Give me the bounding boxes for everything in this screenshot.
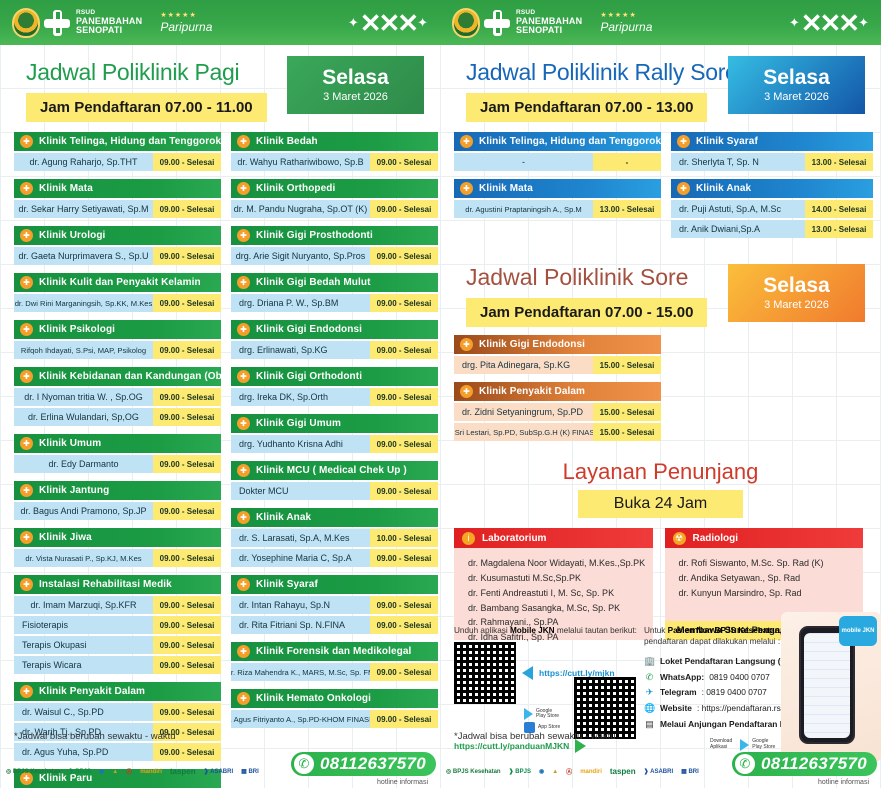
internal-icon: ✚ (460, 385, 473, 398)
clinic-block: ✚Klinik Gigi Endodonsidrg. Pita Adinegar… (454, 335, 661, 374)
mind-icon: ✚ (20, 531, 33, 544)
ear-icon: ✚ (460, 135, 473, 148)
clinic-header: ✚Klinik Jantung (14, 481, 221, 500)
afternoon-column: ✚Klinik Gigi Endodonsidrg. Pita Adinegar… (454, 335, 661, 449)
clinic-header: ✚Instalasi Rehabilitasi Medik (14, 575, 221, 594)
clinic-block: ✚Klinik Gigi Orthodontidrg. Ireka DK, Sp… (231, 367, 438, 406)
doctor-row: dr. Anik Dwiani,Sp.A13.00 - Selesai (671, 220, 873, 238)
clinic-header: ✚Klinik Syaraf (671, 132, 873, 151)
clinic-name: Klinik Mata (39, 183, 93, 194)
rally-registration-hours: Jam Pendaftaran 07.00 - 13.00 (466, 93, 707, 122)
doctor-time: 09.00 - Selesai (153, 703, 221, 721)
clinic-block: ✚Klinik Kulit dan Penyakit Kelamindr. Dw… (14, 273, 221, 312)
clinic-block: ✚Klinik Anakdr. Puji Astuti, Sp.A, M.Sc1… (671, 179, 873, 238)
staff-name: dr. Bambang Sasangka, M.Sc, Sp. PK (468, 601, 647, 616)
doctor-row: dr. I Nyoman tritia W. , Sp.OG09.00 - Se… (14, 388, 221, 406)
clinic-name: Klinik Penyakit Dalam (479, 386, 585, 397)
clinic-header: ✚Klinik Gigi Orthodonti (231, 367, 438, 386)
channel-label: WhatsApp: (660, 670, 704, 685)
kiosk-icon: ▤ (644, 717, 655, 733)
doctor-row: dr. Agung Raharjo, Sp.THT09.00 - Selesai (14, 153, 221, 171)
promo-bold: Mobile JKN (510, 626, 555, 635)
clinic-header: ✚Klinik Anak (231, 508, 438, 527)
doctor-time: 09.00 - Selesai (370, 435, 438, 453)
staff-name: dr. Kunyun Marsindro, Sp. Rad (679, 586, 858, 601)
promo-download-text: Unduh aplikasi Mobile JKN melalui tautan… (454, 625, 639, 636)
doctor-row: dr. Agus Yuha, Sp.PD09.00 - Selesai (14, 743, 221, 761)
doctor-name: dr. Rita Fitriani Sp. N.FINA (231, 616, 370, 634)
clinic-name: Klinik Jantung (39, 485, 109, 496)
doctor-row: dr. Sekar Harry Setiyawati, Sp.M09.00 - … (14, 200, 221, 218)
clinic-header: ✚Klinik Gigi Endodonsi (454, 335, 661, 354)
clinic-name: Klinik MCU ( Medical Chek Up ) (256, 465, 407, 476)
partner-logo-jamkesda-r: ▲ (552, 763, 558, 780)
doctor-name: dr. Wahyu Rathariwibowo, Sp.B (231, 153, 370, 171)
hospital-name: RSUD PANEMBAHAN SENOPATI (76, 10, 142, 35)
doctor-name: drg. Erlinawati, Sp.KG (231, 341, 370, 359)
clinic-name: Klinik Gigi Prosthodonti (256, 230, 373, 241)
heart-icon: ✚ (20, 484, 33, 497)
morning-date: 3 Maret 2026 (323, 91, 388, 103)
schedule-poster: RSUD PANEMBAHAN SENOPATI ★★★★★ Paripurna… (0, 0, 881, 788)
doctor-time: 09.00 - Selesai (153, 294, 221, 312)
clinic-name: Klinik Mata (479, 183, 533, 194)
doctor-name: dr. Gaeta Nurprimavera S., Sp.U (14, 247, 153, 265)
clinic-name: Klinik Anak (256, 512, 311, 523)
morning-day: Selasa (322, 67, 389, 89)
google-play-badge[interactable]: GooglePlay Store (524, 708, 559, 720)
doctor-row: dr. Sherlyta T, Sp. N13.00 - Selesai (671, 153, 873, 171)
partner-logo-a-r: Ⓐ (566, 763, 572, 780)
clinic-header: ✚Klinik Kebidanan dan Kandungan (Obsygn) (14, 367, 221, 386)
channel-value: : 0819 0400 0707 (702, 685, 767, 700)
child-icon: ✚ (677, 182, 690, 195)
doctor-row: drg. Arie Sigit Nuryanto, Sp.Pros09.00 -… (231, 247, 438, 265)
clinic-block: ✚Klinik Syarafdr. Intan Rahayu, Sp.N09.0… (231, 575, 438, 634)
doctor-name: drg. Pita Adinegara, Sp.KG (454, 356, 593, 374)
doctor-name: dr. Waisul C., Sp.PD (14, 703, 153, 721)
doctor-time: 09.00 - Selesai (153, 656, 221, 674)
doctor-time: 13.00 - Selesai (805, 220, 873, 238)
partner-logo-jasaraharja-r: ◉ (539, 763, 544, 780)
doctor-name: dr. Puji Astuti, Sp.A, M.Sc (671, 200, 805, 218)
support-title-block: Layanan Penunjang Buka 24 Jam (440, 459, 881, 518)
blood-icon: ✚ (237, 692, 250, 705)
header-bar-left: RSUD PANEMBAHAN SENOPATI ★★★★★ Paripurna… (0, 0, 440, 45)
doctor-row: drg. Driana P. W., Sp.BM09.00 - Selesai (231, 294, 438, 312)
doctor-name: dr. S. Larasati, Sp.A, M.Kes (231, 529, 370, 547)
mobile-jkn-badge: mobile JKN (839, 616, 877, 646)
doctor-row: dr. Agus Fitriyanto A., Sp.PD-KHOM FINAS… (231, 710, 438, 728)
doctor-name: Terapis Wicara (14, 656, 153, 674)
clinic-name: Klinik Gigi Bedah Mulut (256, 277, 371, 288)
doctor-time: 09.00 - Selesai (153, 408, 221, 426)
afternoon-footnote: *Jadwal bisa berubah sewaktu - waktu (454, 731, 616, 742)
doctor-name: dr. Bagus Andi Pramono, Sp.JP (14, 502, 153, 520)
doctor-name: dr. M. Pandu Nugraha, Sp.OT (K) (231, 200, 370, 218)
clinic-block: ✚Klinik Matadr. Agustini Praptaningsih A… (454, 179, 661, 218)
doctor-name: dr. Zidni Setyaningrum, Sp.PD (454, 403, 593, 421)
clinic-name: Klinik Jiwa (39, 532, 92, 543)
doctor-row: Rifqoh Ihdayati, S.Psi, MAP, Psikolog09.… (14, 341, 221, 359)
checkup-icon: ✚ (237, 464, 250, 477)
service-laboratorium: i Laboratorium dr. Magdalena Noor Widaya… (454, 528, 653, 640)
clinic-header: ✚Klinik Gigi Endodonsi (231, 320, 438, 339)
hospital-line-3: SENOPATI (76, 26, 142, 35)
clinic-header: ✚Klinik Orthopedi (231, 179, 438, 198)
stethoscope-icon: ✚ (20, 437, 33, 450)
doctor-name: Fisioterapis (14, 616, 153, 634)
afternoon-day-badge: Selasa 3 Maret 2026 (728, 264, 865, 322)
clinic-block: ✚Klinik Urologidr. Gaeta Nurprimavera S.… (14, 226, 221, 265)
partner-logo-jamkesda: ▲ (112, 763, 118, 780)
doctor-time: 09.00 - Selesai (370, 596, 438, 614)
tooth-icon: ✚ (237, 323, 250, 336)
partner-logo-taspen: taspen (170, 763, 196, 780)
service-name-rad: Radiologi (693, 533, 739, 544)
clinic-header: ✚Klinik Psikologi (14, 320, 221, 339)
doctor-time: 09.00 - Selesai (153, 341, 221, 359)
phone-screen (804, 633, 850, 738)
partner-logos-right: ◎ BPJS Kesehatan ❱ BPJS ◉ ▲ Ⓐ mandiri ta… (446, 763, 699, 780)
stars-icon-right: ★★★★★ (600, 11, 652, 20)
nonbpjs-pre: Untuk (644, 626, 668, 635)
partner-logo-brilife-r: ▦ BRI (681, 763, 699, 780)
clinic-block: ✚Klinik Gigi Prosthodontidrg. Arie Sigit… (231, 226, 438, 265)
doctor-time: 09.00 - Selesai (370, 153, 438, 171)
rally-date: 3 Maret 2026 (764, 91, 829, 103)
tooth-icon: ✚ (237, 370, 250, 383)
doctor-row: Fisioterapis09.00 - Selesai (14, 616, 221, 634)
qr-code-panduan[interactable] (574, 677, 636, 739)
accreditation-label: Paripurna (160, 20, 212, 34)
clinic-block: ✚Klinik Gigi Umumdrg. Yudhanto Krisna Ad… (231, 414, 438, 453)
afternoon-day: Selasa (763, 275, 830, 297)
partner-logo-bpjs-tk: ❱ BPJS (69, 763, 91, 780)
morning-footnote: *Jadwal bisa berubah sewaktu - waktu (14, 731, 176, 742)
doctor-time: 13.00 - Selesai (805, 153, 873, 171)
partner-logo-bpjs-kesehatan: ◎ BPJS Kesehatan (6, 763, 61, 780)
accreditation-badge: ★★★★★ Paripurna (160, 11, 212, 34)
ear-icon: ✚ (20, 135, 33, 148)
doctor-row: dr. Sri Lestari, Sp.PD, SubSp.G.H (K) FI… (454, 423, 661, 441)
clinic-name: Klinik Penyakit Dalam (39, 686, 145, 697)
clinic-name: Klinik Telinga, Hidung dan Tenggorokan (39, 136, 233, 147)
doctor-time: 10.00 - Selesai (370, 529, 438, 547)
radiology-icon: ☢ (673, 532, 686, 545)
clinic-block: ✚Klinik Jantungdr. Bagus Andi Pramono, S… (14, 481, 221, 520)
doctor-name: dr. Yosephine Maria C, Sp.A (231, 549, 370, 567)
clinic-name: Klinik Umum (39, 438, 101, 449)
doctor-name: dr. Anik Dwiani,Sp.A (671, 220, 805, 238)
doctor-row: dr. Zidni Setyaningrum, Sp.PD15.00 - Sel… (454, 403, 661, 421)
lab-icon: i (462, 532, 475, 545)
internal-icon: ✚ (20, 685, 33, 698)
doctor-row: dr. Riza Mahendra K., MARS, M.Sc, Sp. FM… (231, 663, 438, 681)
clinic-header: ✚Klinik Bedah (231, 132, 438, 151)
clinic-name: Klinik Telinga, Hidung dan Tenggorokan (479, 136, 673, 147)
doctor-name: dr. Sekar Harry Setiyawati, Sp.M (14, 200, 153, 218)
nerve-icon: ✚ (237, 578, 250, 591)
staff-name: dr. Magdalena Noor Widayati, M.Kes.,Sp.P… (468, 556, 647, 571)
stars-icon: ★★★★★ (160, 11, 212, 20)
xxx-mark-icon: ✦✕✕✕✦ (348, 10, 428, 36)
rehab-icon: ✚ (20, 578, 33, 591)
morning-column-left: ✚Klinik Telinga, Hidung dan Tenggorokand… (14, 132, 221, 788)
doctor-row: dr. Dwi Rini Marganingsih, Sp.KK, M.Kes0… (14, 294, 221, 312)
doctor-row: dr. Agustini Praptaningsih A., Sp.M13.00… (454, 200, 661, 218)
clinic-header: ✚Klinik Penyakit Dalam (454, 382, 661, 401)
doctor-time: 15.00 - Selesai (593, 403, 661, 421)
green-cross-icon (44, 10, 70, 36)
doctor-name: drg. Ireka DK, Sp.Orth (231, 388, 370, 406)
green-cross-icon-right (484, 10, 510, 36)
link-panduan[interactable]: https://cutt.ly/panduanMJKN (454, 741, 569, 751)
doctor-time: 09.00 - Selesai (153, 455, 221, 473)
partner-logo-taspen-r: taspen (610, 763, 636, 780)
afternoon-panel: RSUD PANEMBAHAN SENOPATI ★★★★★ Paripurna… (440, 0, 881, 788)
google-play-badge-2[interactable]: GooglePlay Store (740, 739, 775, 751)
clinic-header: ✚Klinik Gigi Prosthodonti (231, 226, 438, 245)
rally-column-right: ✚Klinik Syarafdr. Sherlyta T, Sp. N13.00… (671, 132, 873, 246)
eye-icon: ✚ (20, 182, 33, 195)
doctor-row: dr. Wahyu Rathariwibowo, Sp.B09.00 - Sel… (231, 153, 438, 171)
clinic-name: Klinik Gigi Endodonsi (256, 324, 362, 335)
clinic-header: ✚Klinik Penyakit Dalam (14, 682, 221, 701)
doctor-time: 15.00 - Selesai (593, 423, 661, 441)
doctor-name: Dokter MCU (231, 482, 370, 500)
clinic-header: ✚Klinik Urologi (14, 226, 221, 245)
clinic-header: ✚Klinik Jiwa (14, 528, 221, 547)
skin-icon: ✚ (20, 276, 33, 289)
doctor-row: dr. Bagus Andi Pramono, Sp.JP09.00 - Sel… (14, 502, 221, 520)
doctor-row: drg. Pita Adinegara, Sp.KG15.00 - Selesa… (454, 356, 661, 374)
tooth-icon: ✚ (237, 276, 250, 289)
clinic-name: Klinik Kebidanan dan Kandungan (Obsygn) (39, 371, 249, 382)
clinic-name: Klinik Forensik dan Medikolegal (256, 646, 411, 657)
clinic-header: ✚Klinik Umum (14, 434, 221, 453)
clinic-name: Klinik Psikologi (39, 324, 115, 335)
doctor-time: 09.00 - Selesai (153, 200, 221, 218)
doctor-name: drg. Yudhanto Krisna Adhi (231, 435, 370, 453)
nonbpjs-bold: Pasien Non BPJS Kesehatan, (668, 626, 782, 635)
doctor-name: dr. Sherlyta T, Sp. N (671, 153, 805, 171)
doctor-time: 09.00 - Selesai (370, 247, 438, 265)
doctor-name: dr. Riza Mahendra K., MARS, M.Sc, Sp. FM (231, 663, 370, 681)
doctor-row: dr. Yosephine Maria C, Sp.A09.00 - Seles… (231, 549, 438, 567)
kidney-icon: ✚ (20, 229, 33, 242)
rally-clinic-columns: ✚Klinik Telinga, Hidung dan Tenggorokan-… (440, 122, 881, 246)
morning-clinic-columns: ✚Klinik Telinga, Hidung dan Tenggorokand… (0, 122, 440, 788)
doctor-time: 09.00 - Selesai (153, 153, 221, 171)
qr-code-mjkn[interactable] (454, 642, 516, 704)
service-header-lab: i Laboratorium (454, 528, 653, 548)
doctor-row: dr. Erlina Wulandari, Sp,OG09.00 - Seles… (14, 408, 221, 426)
support-title: Layanan Penunjang (440, 459, 881, 485)
doctor-row: dr. Waisul C., Sp.PD09.00 - Selesai (14, 703, 221, 721)
partner-logo-a: Ⓐ (126, 763, 132, 780)
doctor-name: dr. Imam Marzuqi, Sp.KFR (14, 596, 153, 614)
partner-logo-bpjs-tk-r: ❱ BPJS (509, 763, 531, 780)
clinic-block: ✚Klinik Penyakit Dalamdr. Zidni Setyanin… (454, 382, 661, 441)
telegram-icon: ✈ (644, 685, 655, 701)
doctor-row: drg. Erlinawati, Sp.KG09.00 - Selesai (231, 341, 438, 359)
doctor-time: 09.00 - Selesai (153, 247, 221, 265)
clinic-block: ✚Klinik Penyakit Dalamdr. Waisul C., Sp.… (14, 682, 221, 761)
clinic-name: Instalasi Rehabilitasi Medik (39, 579, 172, 590)
doctor-row: dr. Rita Fitriani Sp. N.FINA09.00 - Sele… (231, 616, 438, 634)
clinic-header: ✚Klinik Telinga, Hidung dan Tenggorokan (454, 132, 661, 151)
doctor-name: dr. Intan Rahayu, Sp.N (231, 596, 370, 614)
clinic-block: ✚Klinik MCU ( Medical Chek Up )Dokter MC… (231, 461, 438, 500)
clinic-name: Klinik Bedah (256, 136, 318, 147)
whatsapp-icon: ✆ (644, 670, 655, 686)
doctor-time: 09.00 - Selesai (370, 200, 438, 218)
doctor-name: dr. Agus Fitriyanto A., Sp.PD-KHOM FINAS… (231, 710, 370, 728)
brain-icon: ✚ (20, 323, 33, 336)
doctor-time: 09.00 - Selesai (370, 663, 438, 681)
doctor-name: dr. Sri Lestari, Sp.PD, SubSp.G.H (K) FI… (454, 423, 593, 441)
partner-logo-bpjs-kesehatan-r: ◎ BPJS Kesehatan (446, 763, 501, 780)
clinic-name: Klinik Urologi (39, 230, 105, 241)
clinic-header: ✚Klinik Syaraf (231, 575, 438, 594)
channel-value: 0819 0400 0707 (709, 670, 770, 685)
partner-logo-jasaraharja: ◉ (99, 763, 104, 780)
afternoon-date: 3 Maret 2026 (764, 299, 829, 311)
clinic-header: ✚Klinik Anak (671, 179, 873, 198)
clinic-block: ✚Klinik Bedahdr. Wahyu Rathariwibowo, Sp… (231, 132, 438, 171)
arrow-left-icon (522, 666, 533, 680)
whatsapp-icon-right: ✆ (735, 754, 755, 774)
rally-day: Selasa (763, 67, 830, 89)
clinic-header: ✚Klinik MCU ( Medical Chek Up ) (231, 461, 438, 480)
doctor-time: 09.00 - Selesai (153, 616, 221, 634)
hospital-seal-icon (12, 8, 40, 38)
staff-name: dr. Kusumastuti M.Sc,Sp.PK (468, 571, 647, 586)
doctor-time: 09.00 - Selesai (153, 549, 221, 567)
nonbpjs-post: pendaftaran dapat dilakukan melalui : (644, 637, 780, 646)
service-staff-rad: dr. Rofi Siswanto, M.Sc. Sp. Rad (K)dr. … (665, 548, 864, 609)
doctor-time: 09.00 - Selesai (153, 502, 221, 520)
clinic-block: ✚Klinik Forensik dan Medikolegaldr. Riza… (231, 642, 438, 681)
counter-icon: 🏢 (644, 654, 655, 670)
clinic-block: ✚Klinik Matadr. Sekar Harry Setiyawati, … (14, 179, 221, 218)
channel-label: Website (660, 701, 692, 716)
doctor-row: Terapis Wicara09.00 - Selesai (14, 656, 221, 674)
doctor-time: 09.00 - Selesai (370, 294, 438, 312)
whatsapp-icon: ✆ (294, 754, 314, 774)
clinic-block: ✚Klinik PsikologiRifqoh Ihdayati, S.Psi,… (14, 320, 221, 359)
tooth-icon: ✚ (237, 229, 250, 242)
doctor-name: dr. Vista Nurasati P., Sp.KJ, M.Kes (14, 549, 153, 567)
partner-logo-brilife: ▦ BRI (241, 763, 259, 780)
doctor-name: dr. Dwi Rini Marganingsih, Sp.KK, M.Kes (14, 294, 153, 312)
hospital-name-right: RSUD PANEMBAHAN SENOPATI (516, 10, 582, 35)
hospital-line-3-right: SENOPATI (516, 26, 582, 35)
scalpel-icon: ✚ (237, 135, 250, 148)
accreditation-label-right: Paripurna (600, 20, 652, 34)
afternoon-registration-hours: Jam Pendaftaran 07.00 - 15.00 (466, 298, 707, 327)
service-name-lab: Laboratorium (482, 533, 546, 544)
morning-panel: RSUD PANEMBAHAN SENOPATI ★★★★★ Paripurna… (0, 0, 440, 788)
clinic-block: ✚Klinik Jiwadr. Vista Nurasati P., Sp.KJ… (14, 528, 221, 567)
clinic-name: Klinik Syaraf (696, 136, 758, 147)
doctor-row: dr. Gaeta Nurprimavera S., Sp.U09.00 - S… (14, 247, 221, 265)
doctor-name: dr. I Nyoman tritia W. , Sp.OG (14, 388, 153, 406)
clinic-block: ✚Klinik Telinga, Hidung dan Tenggorokand… (14, 132, 221, 171)
mobile-jkn-phone-image: mobile JKN (781, 612, 881, 762)
morning-day-badge: Selasa 3 Maret 2026 (287, 56, 424, 114)
clinic-name: Klinik Kulit dan Penyakit Kelamin (39, 277, 201, 288)
clinic-block: ✚Klinik Anakdr. S. Larasati, Sp.A, M.Kes… (231, 508, 438, 567)
accreditation-badge-right: ★★★★★ Paripurna (600, 11, 652, 34)
clinic-block: ✚Klinik Gigi Bedah Mulutdrg. Driana P. W… (231, 273, 438, 312)
download-aplikasi-label: DownloadAplikasi (710, 739, 732, 750)
partner-logo-asabri-r: ❱ ASABRI (644, 763, 673, 780)
hospital-seal-icon-right (452, 8, 480, 38)
doctor-time: 09.00 - Selesai (370, 388, 438, 406)
doctor-time: 09.00 - Selesai (370, 482, 438, 500)
doctor-row: drg. Ireka DK, Sp.Orth09.00 - Selesai (231, 388, 438, 406)
doctor-time: 13.00 - Selesai (593, 200, 661, 218)
partner-logos-left: ◎ BPJS Kesehatan ❱ BPJS ◉ ▲ Ⓐ mandiri ta… (6, 763, 259, 780)
hotline-left[interactable]: ✆ 08112637570 (291, 752, 436, 776)
clinic-header: ✚Klinik Gigi Umum (231, 414, 438, 433)
staff-name: dr. Andika Setyawan., Sp. Rad (679, 571, 858, 586)
clinic-header: ✚Klinik Kulit dan Penyakit Kelamin (14, 273, 221, 292)
doctor-name: Terapis Okupasi (14, 636, 153, 654)
tooth-icon: ✚ (237, 417, 250, 430)
partner-logo-asabri: ❱ ASABRI (204, 763, 233, 780)
clinic-name: Klinik Orthopedi (256, 183, 335, 194)
clinic-block: ✚Klinik Syarafdr. Sherlyta T, Sp. N13.00… (671, 132, 873, 171)
clinic-header: ✚Klinik Mata (14, 179, 221, 198)
hotline-right[interactable]: ✆ 08112637570 (732, 752, 877, 776)
clinic-name: Klinik Anak (696, 183, 751, 194)
hotline-label: hotline informasi (377, 779, 428, 786)
doctor-row: Terapis Okupasi09.00 - Selesai (14, 636, 221, 654)
doctor-row: Dokter MCU09.00 - Selesai (231, 482, 438, 500)
clinic-block: ✚Klinik Orthopedidr. M. Pandu Nugraha, S… (231, 179, 438, 218)
header-bar-right: RSUD PANEMBAHAN SENOPATI ★★★★★ Paripurna… (440, 0, 881, 45)
doctor-name: dr. Agustini Praptaningsih A., Sp.M (454, 200, 593, 218)
doctor-row: dr. Edy Darmanto09.00 - Selesai (14, 455, 221, 473)
doctor-name: dr. Agus Yuha, Sp.PD (14, 743, 153, 761)
doctor-row: drg. Yudhanto Krisna Adhi09.00 - Selesai (231, 435, 438, 453)
promo-pre: Unduh aplikasi (454, 626, 510, 635)
doctor-row: dr. Puji Astuti, Sp.A, M.Sc14.00 - Seles… (671, 200, 873, 218)
support-hours: Buka 24 Jam (578, 490, 743, 518)
hotline-number-right: 08112637570 (761, 754, 867, 774)
rally-day-badge: Selasa 3 Maret 2026 (728, 56, 865, 114)
doctor-row: -- (454, 153, 661, 171)
partner-logo-mandiri-inhealth-r: mandiri (580, 763, 602, 780)
xxx-mark-icon-right: ✦✕✕✕✦ (789, 10, 869, 36)
doctor-row: dr. S. Larasati, Sp.A, M.Kes10.00 - Sele… (231, 529, 438, 547)
doctor-name: drg. Arie Sigit Nuryanto, Sp.Pros (231, 247, 370, 265)
doctor-time: 15.00 - Selesai (593, 356, 661, 374)
clinic-header: ✚Klinik Telinga, Hidung dan Tenggorokan (14, 132, 221, 151)
clinic-header: ✚Klinik Gigi Bedah Mulut (231, 273, 438, 292)
clinic-block: ✚Klinik Umumdr. Edy Darmanto09.00 - Sele… (14, 434, 221, 473)
doctor-name: dr. Agung Raharjo, Sp.THT (14, 153, 153, 171)
clinic-block: ✚Klinik Kebidanan dan Kandungan (Obsygn)… (14, 367, 221, 426)
rally-column-left: ✚Klinik Telinga, Hidung dan Tenggorokan-… (454, 132, 661, 246)
clinic-block: ✚Klinik Gigi Endodonsidrg. Erlinawati, S… (231, 320, 438, 359)
staff-name: dr. Rofi Siswanto, M.Sc. Sp. Rad (K) (679, 556, 858, 571)
doctor-time: - (593, 153, 661, 171)
doctor-time: 09.00 - Selesai (370, 710, 438, 728)
